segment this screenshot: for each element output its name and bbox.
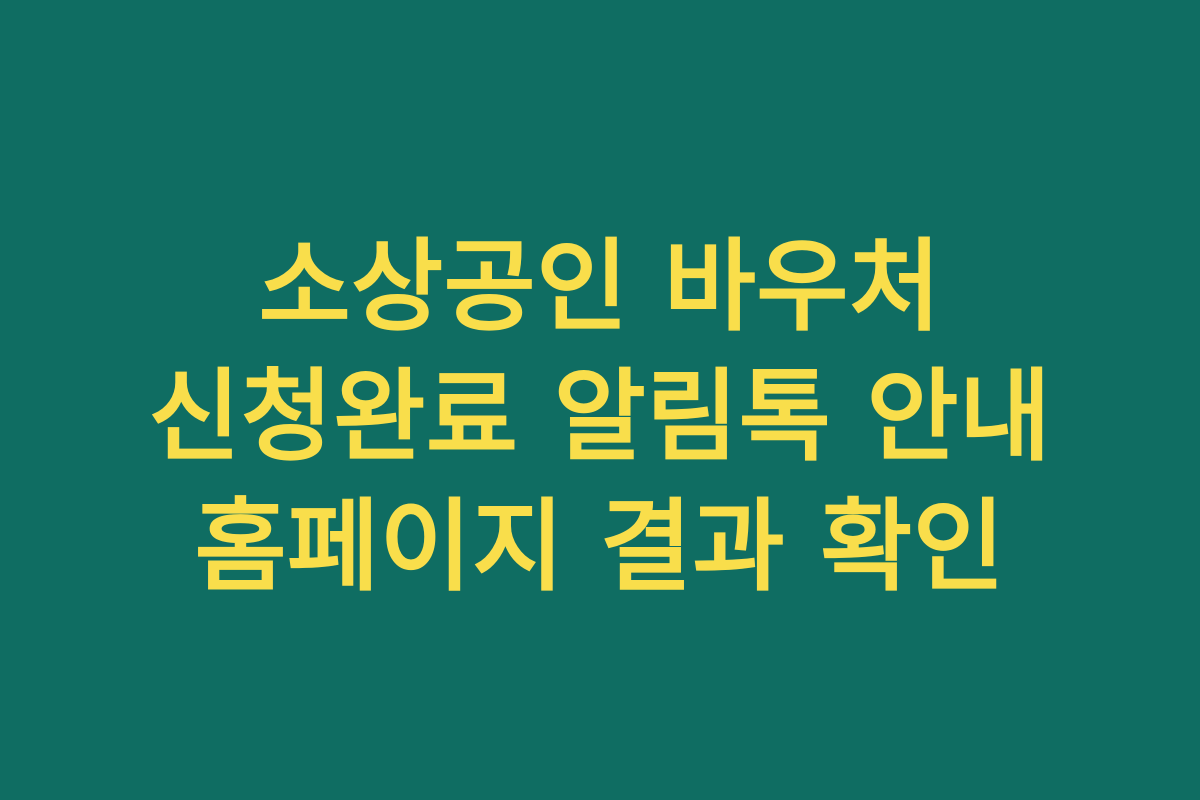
- banner-card: 소상공인 바우처 신청완료 알림톡 안내 홈페이지 결과 확인: [0, 0, 1200, 800]
- banner-headline: 소상공인 바우처 신청완료 알림톡 안내 홈페이지 결과 확인: [0, 222, 1200, 612]
